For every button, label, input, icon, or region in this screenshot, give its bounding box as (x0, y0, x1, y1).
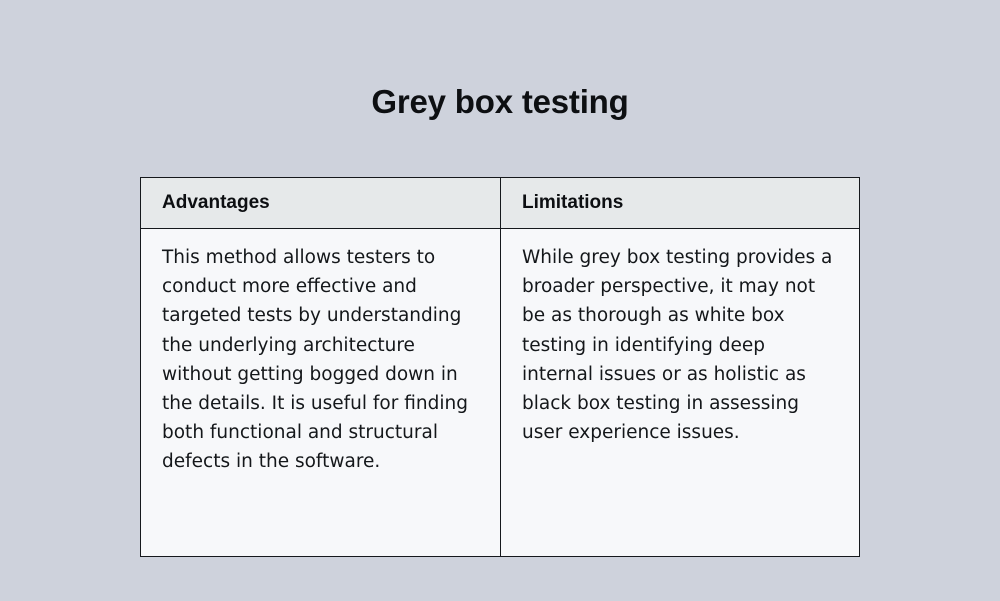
table-header-row: Advantages Limitations (141, 178, 860, 229)
table-header: Advantages Limitations (141, 178, 860, 229)
page-root: Grey box testing Advantages Limitations … (0, 0, 1000, 601)
page-title: Grey box testing (0, 80, 1000, 124)
comparison-table: Advantages Limitations This method allow… (140, 177, 860, 557)
table-row: This method allows testers to conduct mo… (141, 229, 860, 557)
table-body: This method allows testers to conduct mo… (141, 229, 860, 557)
column-header-advantages: Advantages (141, 178, 501, 229)
cell-limitations-text: While grey box testing provides a broade… (522, 243, 833, 447)
column-header-limitations: Limitations (501, 178, 860, 229)
cell-limitations: While grey box testing provides a broade… (501, 229, 860, 557)
cell-advantages: This method allows testers to conduct mo… (141, 229, 501, 557)
cell-advantages-text: This method allows testers to conduct mo… (162, 243, 474, 477)
